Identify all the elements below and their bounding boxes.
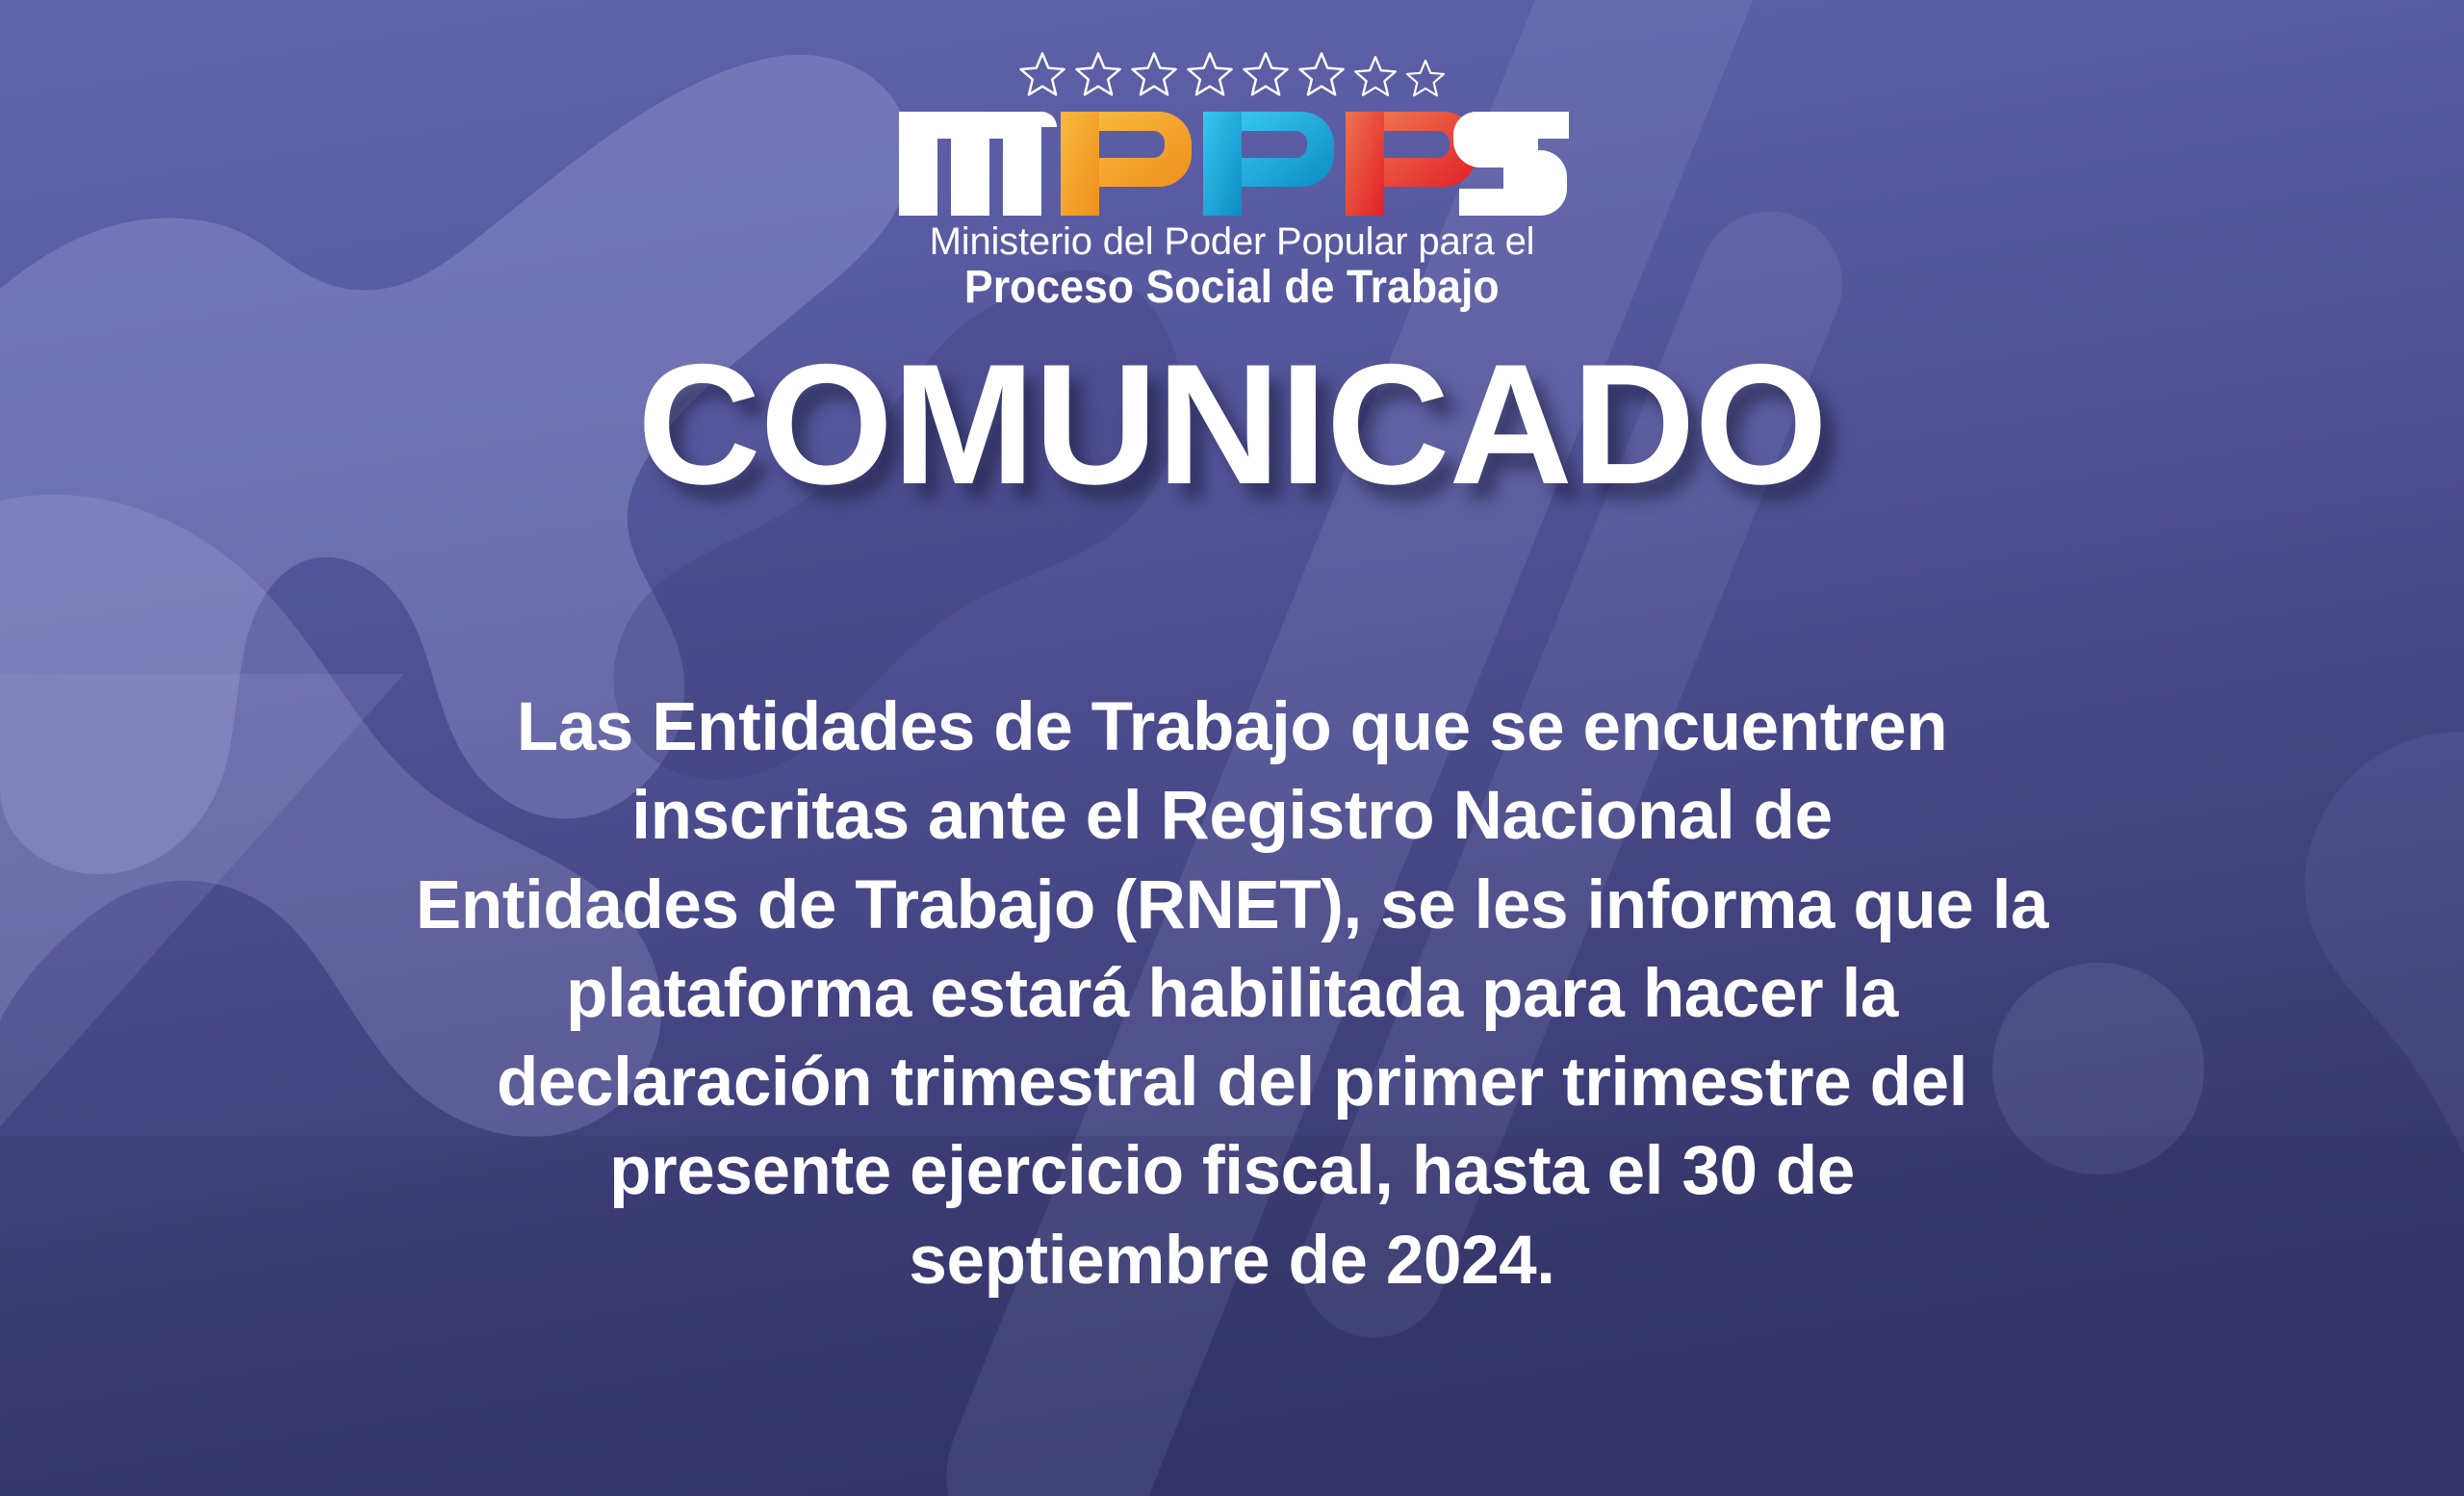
page-title: COMUNICADO bbox=[0, 339, 2464, 510]
star-outline-icon bbox=[1184, 50, 1236, 100]
process-line: Proceso Social de Trabajo bbox=[964, 263, 1500, 313]
star-outline-icon bbox=[1072, 50, 1124, 100]
logo-letter-m bbox=[899, 112, 1057, 216]
body-line: Las Entidades de Trabajo que se encuentr… bbox=[144, 684, 2320, 772]
star-outline-icon bbox=[1296, 50, 1347, 100]
announcement-body: Las Entidades de Trabajo que se encuentr… bbox=[144, 684, 2320, 1305]
logo-letter-p-cyan bbox=[1203, 112, 1334, 216]
star-outline-icon bbox=[1016, 50, 1068, 100]
comunicado-poster: Ministerio del Poder Popular para el Pro… bbox=[0, 0, 2464, 1496]
star-outline-icon bbox=[1128, 50, 1180, 100]
star-outline-icon bbox=[1351, 54, 1399, 100]
body-line: plataforma estará habilitada para hacer … bbox=[144, 950, 2320, 1039]
body-line: presente ejercicio fiscal, hasta el 30 d… bbox=[144, 1127, 2320, 1216]
ministry-line: Ministerio del Poder Popular para el bbox=[930, 221, 1535, 262]
body-line: Entidades de Trabajo (RNET), se les info… bbox=[144, 862, 2320, 950]
star-outline-icon bbox=[1240, 50, 1292, 100]
body-line: declaración trimestral del primer trimes… bbox=[144, 1039, 2320, 1127]
star-outline-icon bbox=[1403, 58, 1448, 100]
stars-row bbox=[1016, 40, 1448, 100]
body-line: inscritas ante el Registro Nacional de bbox=[144, 772, 2320, 861]
body-line: septiembre de 2024. bbox=[144, 1217, 2320, 1305]
mppst-logo: Ministerio del Poder Popular para el Pro… bbox=[0, 40, 2464, 313]
mppst-wordmark bbox=[895, 102, 1569, 216]
logo-letter-p-orange bbox=[1061, 112, 1192, 216]
